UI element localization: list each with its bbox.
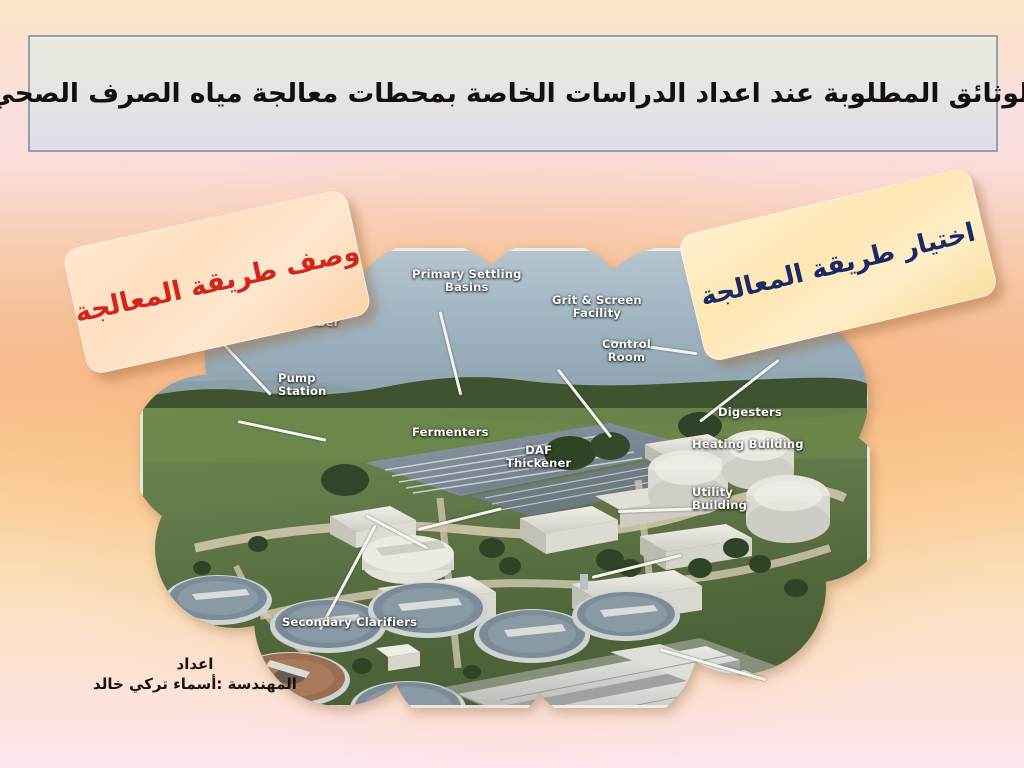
slide-canvas: الوثائق المطلوبة عند اعداد الدراسات الخا… [0, 0, 1024, 768]
callout-right-label: اختيار طريقة المعالجة [698, 218, 979, 313]
credit-line-author-name: المهندسة :أسماء تركي خالد [45, 675, 345, 695]
slide-title-box: الوثائق المطلوبة عند اعداد الدراسات الخا… [28, 35, 998, 152]
credit-line-prepared-by: اعداد [45, 655, 345, 675]
author-credit: اعداد المهندسة :أسماء تركي خالد [45, 655, 345, 694]
page-title: الوثائق المطلوبة عند اعداد الدراسات الخا… [0, 76, 1024, 112]
callout-left-label: وصف طريقة المعالجة [72, 235, 363, 328]
